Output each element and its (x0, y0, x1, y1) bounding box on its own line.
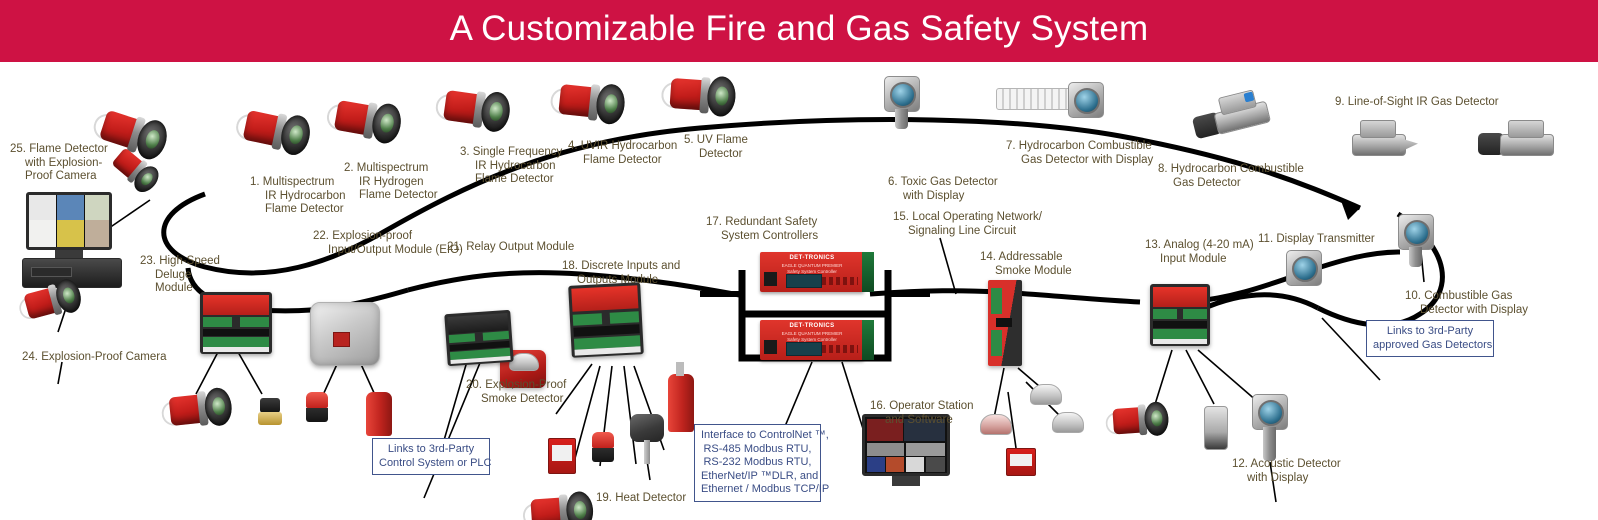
controller-model: EAGLE QUANTUM PREMIER Safety System Cont… (760, 263, 864, 274)
beacon-base (306, 408, 328, 422)
label-number: 16. (870, 400, 886, 412)
call-point-face (552, 445, 573, 461)
label-number: 6. (888, 176, 898, 188)
smoke-chamber (509, 353, 539, 371)
detector-display (1404, 220, 1430, 246)
label-number: 20. (466, 379, 482, 391)
label-text: Heat Detector (612, 492, 686, 504)
controller-connector (764, 272, 777, 286)
diagram-canvas: DET-TRONICS EAGLE QUANTUM PREMIER Safety… (0, 62, 1598, 520)
terminal-block-bottom (1153, 329, 1207, 339)
label-text: Flame Detector with Explosion- Proof Cam… (25, 143, 108, 182)
device-safety-controller-a: DET-TRONICS EAGLE QUANTUM PREMIER Safety… (760, 252, 864, 292)
label-text: Local Operating Network/ Signaling Line … (908, 211, 1042, 237)
terminal-top (991, 288, 1002, 314)
label-text: Combustible Gas Detector with Display (1420, 290, 1528, 316)
device-label-11: 11. Display Transmitter (1258, 233, 1375, 247)
label-text: Explosion-Proof Camera (38, 351, 166, 363)
terminal-block-left (203, 317, 232, 327)
label-number: 25. (10, 143, 26, 155)
label-text: UVIR Hydrocarbon Flame Detector (578, 140, 678, 166)
monitor-screen (26, 192, 112, 250)
detector-display (1258, 400, 1284, 426)
device-label-3: 3. Single Frequency IR Hydrocarbon Flame… (460, 146, 562, 187)
label-text: Redundant Safety System Controllers (721, 216, 818, 242)
terminal-block-right (240, 317, 269, 327)
label-text: Single Frequency IR Hydrocarbon Flame De… (470, 146, 563, 185)
label-number: 17. (706, 216, 722, 228)
label-number: 8. (1158, 163, 1168, 175)
label-text: Addressable Smoke Module (995, 251, 1072, 277)
label-number: 19. (596, 492, 612, 504)
label-text: Toxic Gas Detector with Display (898, 176, 998, 202)
device-safety-controller-b: DET-TRONICS EAGLE QUANTUM PREMIER Safety… (760, 320, 864, 360)
device-cylinder-center (668, 374, 694, 432)
detector-fins (1360, 120, 1396, 138)
device-label-12: 12. Acoustic Detector with Display (1232, 458, 1341, 485)
device-label-4: 4. UVIR Hydrocarbon Flame Detector (568, 140, 677, 167)
device-label-18: 18. Discrete Inputs and Outputs Module (562, 260, 680, 287)
controller-connector (764, 340, 777, 354)
label-number: 1. (250, 176, 260, 188)
device-label-6: 6. Toxic Gas Detector with Display (888, 176, 998, 203)
label-text: Acoustic Detector with Display (1247, 458, 1341, 484)
detector-display (1074, 88, 1100, 114)
label-text: Operator Station and Software (885, 400, 974, 426)
terminal-bottom (991, 330, 1002, 356)
device-label-17: 17. Redundant Safety System Controllers (706, 216, 818, 243)
module-foot (1153, 339, 1207, 344)
label-text: Relay Output Module (463, 241, 574, 253)
module-label-strip (203, 329, 269, 336)
detector-fins (1508, 120, 1544, 138)
device-monitor-25 (26, 192, 112, 260)
device-label-16: 16. Operator Station and Software (870, 400, 974, 427)
beacon-dome (592, 432, 614, 448)
label-text: Discrete Inputs and Outputs Module (577, 260, 680, 286)
page-title: A Customizable Fire and Gas Safety Syste… (0, 0, 1598, 58)
label-text: Hydrocarbon Combustible Gas Detector wit… (1016, 140, 1154, 166)
module-foot (203, 347, 269, 352)
device-smoke-detector-b (1052, 412, 1084, 433)
detector-display (890, 82, 916, 108)
detector-cap (630, 414, 664, 442)
device-label-13: 13. Analog (4-20 mA) Input Module (1145, 239, 1254, 266)
device-label-9: 9. Line-of-Sight IR Gas Detector (1335, 96, 1499, 110)
device-label-25: 25. Flame Detector with Explosion- Proof… (10, 143, 108, 184)
label-number: 5. (684, 134, 694, 146)
controller-lcd (786, 274, 822, 288)
device-deluge-module-23 (200, 292, 272, 354)
module-top (1153, 287, 1207, 307)
device-label-5: 5. UV Flame Detector (684, 134, 748, 161)
sensor-stem (895, 109, 908, 129)
device-acoustic-sensor (1204, 406, 1228, 450)
controller-brand: DET-TRONICS (760, 323, 864, 329)
callout-gasdet: Links to 3rd-Party approved Gas Detector… (1366, 320, 1494, 357)
module-top (203, 295, 269, 315)
device-label-14: 14. Addressable Smoke Module (980, 251, 1072, 278)
solenoid-valve-body (258, 412, 282, 425)
label-number: 14. (980, 251, 996, 263)
label-text: Multispectrum IR Hydrogen Flame Detector (354, 162, 438, 201)
controller-brand: DET-TRONICS (760, 255, 864, 261)
terminal-block-right (482, 331, 509, 341)
eio-window (333, 332, 350, 348)
device-discrete-io-module-18 (568, 282, 644, 358)
device-smoke-detector-c (980, 414, 1012, 435)
device-label-15: 15. Local Operating Network/ Signaling L… (893, 211, 1042, 238)
terminal-block-left (449, 333, 476, 343)
terminal-block-right (610, 311, 639, 324)
terminal-block-bottom (203, 337, 269, 347)
label-number: 3. (460, 146, 470, 158)
label-number: 23. (140, 255, 156, 267)
optical-drive (31, 267, 72, 277)
controller-lcd (786, 342, 822, 356)
header-bar: A Customizable Fire and Gas Safety Syste… (0, 0, 1598, 62)
terminal-block-left (573, 313, 602, 326)
device-manual-call-point-left (548, 438, 576, 474)
device-label-7: 7. Hydrocarbon Combustible Gas Detector … (1006, 140, 1153, 167)
label-number: 22. (313, 230, 329, 242)
device-label-20: 20. Explosion-Proof Smoke Detector (466, 379, 566, 406)
device-analog-input-module-13 (1150, 284, 1210, 346)
label-number: 4. (568, 140, 578, 152)
sensor-stem (1263, 427, 1276, 461)
device-manual-call-point (1006, 448, 1036, 476)
label-text: Display Transmitter (1273, 233, 1375, 245)
label-text: Explosion-proof Input/Output Module (EIO… (328, 230, 463, 256)
device-label-23: 23. High-Speed Deluge Module (140, 255, 220, 296)
device-sensor-strip-7 (996, 88, 1076, 110)
beacon-dome (306, 392, 328, 408)
label-number: 15. (893, 211, 909, 223)
device-label-10: 10. Combustible Gas Detector with Displa… (1405, 290, 1528, 317)
device-label-19: 19. Heat Detector (596, 492, 686, 506)
label-number: 10. (1405, 290, 1421, 302)
beacon-base (592, 448, 614, 462)
device-label-2: 2. Multispectrum IR Hydrogen Flame Detec… (344, 162, 438, 203)
call-point-face (1010, 454, 1032, 466)
device-relay-output-module-21 (444, 310, 513, 366)
label-number: 9. (1335, 96, 1345, 108)
controller-buttons[interactable] (822, 277, 858, 285)
device-addressable-smoke-module-14 (988, 280, 1022, 366)
controller-buttons[interactable] (822, 345, 858, 353)
device-cylinder-valve (676, 362, 684, 376)
terminal-block-left (1153, 309, 1177, 319)
terminal-block-right (1183, 309, 1207, 319)
sensor-stem (1409, 247, 1422, 267)
label-text: Analog (4-20 mA) Input Module (1160, 239, 1254, 265)
label-text: High-Speed Deluge Module (155, 255, 220, 294)
detector-probe (644, 440, 650, 464)
label-number: 18. (562, 260, 578, 272)
callout-interface: Interface to ControlNet ™, RS-485 Modbus… (694, 424, 821, 502)
label-number: 11. (1258, 233, 1273, 245)
label-number: 7. (1006, 140, 1016, 152)
label-text: Line-of-Sight IR Gas Detector (1345, 96, 1499, 108)
device-label-24: 24. Explosion-Proof Camera (22, 351, 166, 365)
module-connector (996, 318, 1012, 327)
label-number: 24. (22, 351, 38, 363)
device-cylinder-eio (366, 392, 392, 436)
operator-stand (892, 476, 920, 486)
controller-model: EAGLE QUANTUM PREMIER Safety System Cont… (760, 331, 864, 342)
device-label-8: 8. Hydrocarbon Combustible Gas Detector (1158, 163, 1304, 190)
device-smoke-detector-a (1030, 384, 1062, 405)
device-eio-enclosure-22 (310, 302, 380, 366)
device-label-22: 22. Explosion-proof Input/Output Module … (313, 230, 463, 257)
label-text: UV Flame Detector (694, 134, 748, 160)
label-number: 2. (344, 162, 354, 174)
label-text: Multispectrum IR Hydrocarbon Flame Detec… (260, 176, 346, 215)
transmitter-display (1292, 256, 1318, 282)
label-text: Hydrocarbon Combustible Gas Detector (1168, 163, 1304, 189)
solenoid-coil (260, 398, 280, 413)
device-label-1: 1. Multispectrum IR Hydrocarbon Flame De… (250, 176, 346, 217)
module-label-strip (1153, 321, 1207, 328)
label-number: 12. (1232, 458, 1248, 470)
label-number: 13. (1145, 239, 1161, 251)
label-text: Explosion-Proof Smoke Detector (481, 379, 566, 405)
diagram-page: A Customizable Fire and Gas Safety Syste… (0, 0, 1598, 520)
module-top (571, 285, 638, 311)
device-label-21: 21. Relay Output Module (447, 241, 574, 255)
callout-plc: Links to 3rd-Party Control System or PLC (372, 438, 490, 475)
